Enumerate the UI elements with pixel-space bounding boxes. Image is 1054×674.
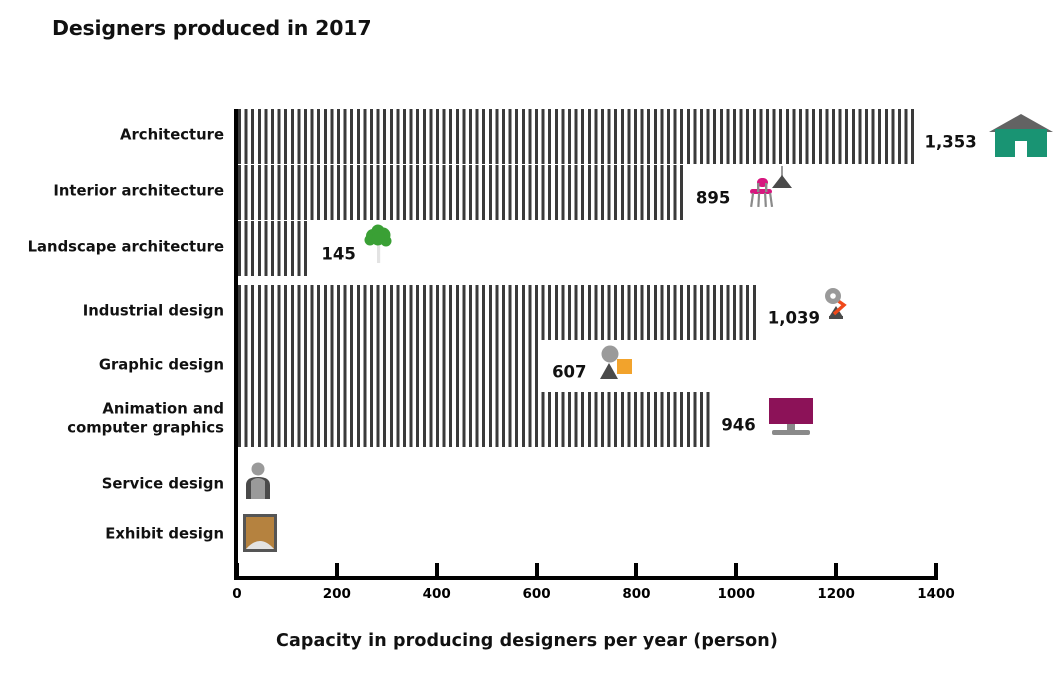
house-icon [988, 110, 1054, 162]
plot-area: 0200400600800100012001400 Architecture1,… [0, 0, 1054, 674]
person-icon [243, 461, 273, 509]
bar-interior-architecture[interactable] [238, 165, 685, 220]
x-tick-label-0: 0 [232, 586, 241, 602]
y-axis-label-graphic-design: Graphic design [99, 357, 224, 376]
x-tick-400 [435, 563, 439, 580]
x-tick-200 [335, 563, 339, 580]
bar-value-industrial-design: 1,039 [768, 309, 820, 328]
x-axis-title: Capacity in producing designers per year… [0, 631, 1054, 651]
bar-architecture[interactable] [238, 109, 914, 164]
y-axis-label-animation-and-computer-graphics: Animation and computer graphics [67, 400, 224, 437]
bar-graphic-design[interactable] [238, 339, 541, 394]
chart-root: Designers produced in 2017 0200400600800… [0, 0, 1054, 674]
y-axis-label-industrial-design: Industrial design [83, 303, 224, 322]
shapes-icon [597, 343, 635, 389]
x-axis-line [234, 576, 936, 580]
x-tick-label-1000: 1000 [717, 586, 755, 602]
x-tick-label-600: 600 [522, 586, 550, 602]
desk-lamp-icon [821, 288, 855, 336]
y-axis-label-landscape-architecture: Landscape architecture [28, 239, 224, 258]
x-tick-label-400: 400 [423, 586, 451, 602]
monitor-icon [765, 396, 817, 442]
x-tick-600 [535, 563, 539, 580]
bar-industrial-design[interactable] [238, 285, 757, 340]
bar-value-animation-and-computer-graphics: 946 [721, 416, 755, 435]
bar-value-landscape-architecture: 145 [321, 245, 355, 264]
x-tick-label-800: 800 [622, 586, 650, 602]
x-tick-label-200: 200 [323, 586, 351, 602]
x-tick-1400 [934, 563, 938, 580]
booth-icon [243, 514, 277, 556]
x-tick-800 [634, 563, 638, 580]
x-tick-label-1200: 1200 [817, 586, 855, 602]
x-tick-label-1400: 1400 [917, 586, 955, 602]
chair-lamp-icon [746, 165, 794, 215]
x-tick-1200 [834, 563, 838, 580]
x-tick-0 [235, 563, 239, 580]
y-axis-label-service-design: Service design [102, 476, 224, 495]
bar-landscape-architecture[interactable] [238, 221, 310, 276]
y-axis-label-interior-architecture: Interior architecture [53, 183, 224, 202]
y-axis-label-exhibit-design: Exhibit design [105, 526, 224, 545]
x-tick-1000 [734, 563, 738, 580]
bar-value-architecture: 1,353 [925, 133, 977, 152]
bar-value-interior-architecture: 895 [696, 189, 730, 208]
tree-icon [361, 224, 397, 268]
bar-animation-and-computer-graphics[interactable] [238, 392, 710, 447]
y-axis-label-architecture: Architecture [120, 127, 224, 146]
bar-value-graphic-design: 607 [552, 363, 586, 382]
